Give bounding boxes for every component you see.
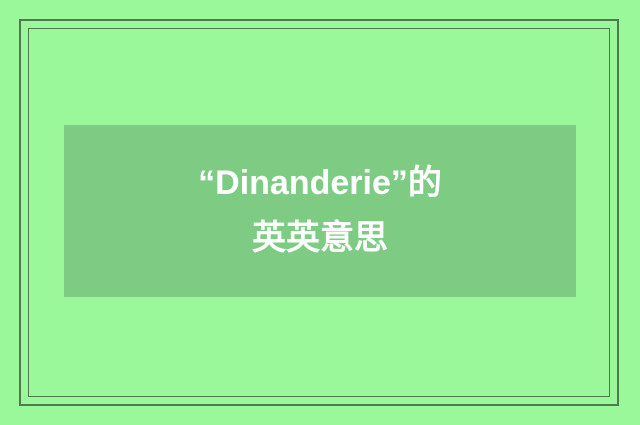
content-panel: “Dinanderie”的英英意思 bbox=[64, 125, 576, 297]
page-title: “Dinanderie”的英英意思 bbox=[198, 156, 443, 266]
page-root: “Dinanderie”的英英意思 bbox=[0, 0, 640, 425]
